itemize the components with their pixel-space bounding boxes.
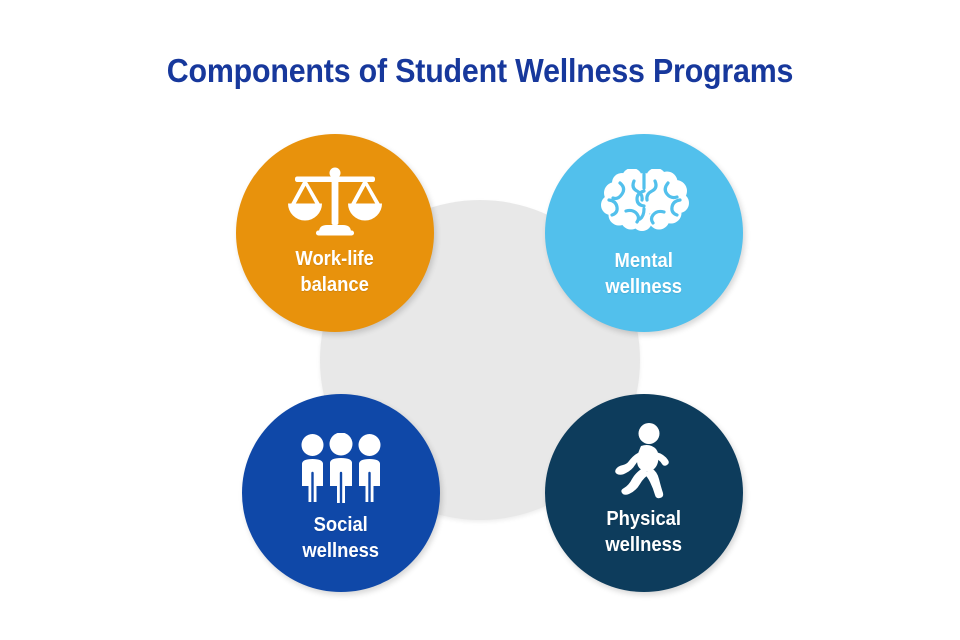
node-label: Mental wellness: [606, 248, 683, 300]
node-work-life-balance[interactable]: Work-life balance: [236, 134, 434, 332]
running-person-icon: [608, 424, 680, 500]
node-label: Social wellness: [303, 512, 380, 564]
node-social-wellness[interactable]: Social wellness: [242, 394, 440, 592]
wellness-infographic: Components of Student Wellness Programs: [0, 0, 960, 640]
node-mental-wellness[interactable]: Mental wellness: [545, 134, 743, 332]
brain-icon: [598, 166, 690, 242]
page-title: Components of Student Wellness Programs: [38, 50, 921, 92]
node-physical-wellness[interactable]: Physical wellness: [545, 394, 743, 592]
group-of-people-icon: [299, 430, 383, 506]
balance-scale-icon: [287, 164, 383, 240]
node-label: Physical wellness: [606, 506, 683, 558]
node-label: Work-life balance: [296, 246, 374, 298]
